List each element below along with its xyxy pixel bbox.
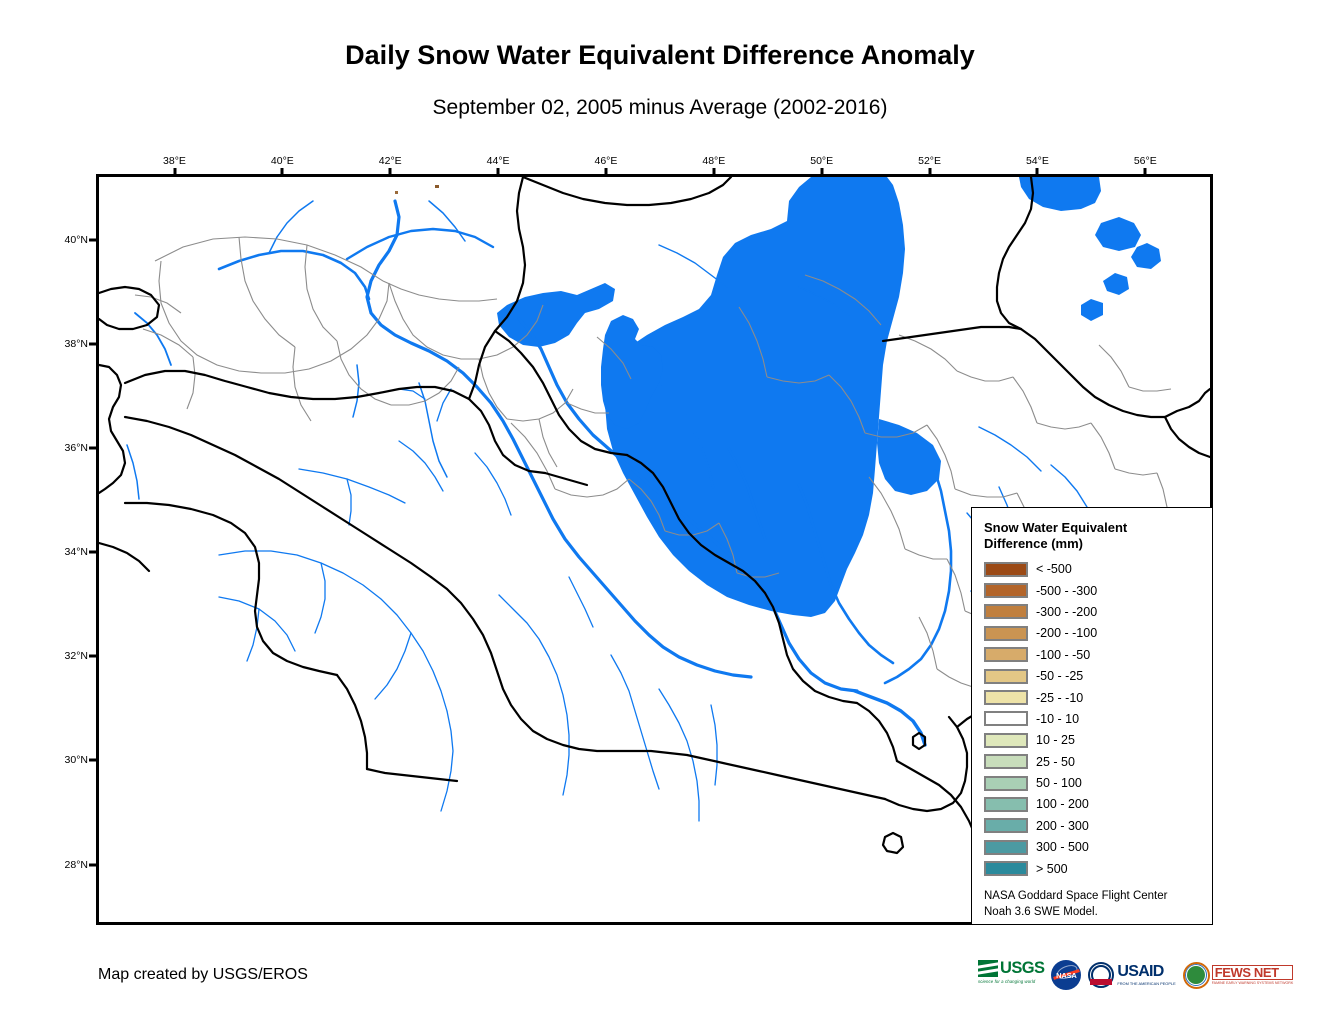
admin-iran-24 bbox=[1129, 387, 1171, 391]
wadi-central-3 bbox=[611, 655, 659, 789]
legend-color-swatch bbox=[984, 583, 1028, 598]
usgs-wave-icon bbox=[978, 960, 998, 977]
legend-row[interactable]: -10 - 10 bbox=[984, 708, 1202, 729]
legend-label: -25 - -10 bbox=[1036, 691, 1083, 705]
legend-row[interactable]: 300 - 500 bbox=[984, 837, 1202, 858]
fews-logo-tagline: FAMINE EARLY WARNING SYSTEMS NETWORK bbox=[1212, 981, 1294, 985]
legend-color-swatch bbox=[984, 797, 1028, 812]
legend-label: < -500 bbox=[1036, 562, 1072, 576]
lat-axis-label: 40°N bbox=[52, 234, 88, 246]
fews-logo-text: FEWS NET bbox=[1212, 965, 1294, 980]
nasa-logo: NASA bbox=[1051, 960, 1081, 990]
admin-iran-28 bbox=[919, 617, 937, 669]
caspian-east-shoal-2 bbox=[1131, 243, 1161, 269]
legend-label: -50 - -25 bbox=[1036, 669, 1083, 683]
fews-globe-icon bbox=[1183, 962, 1210, 989]
admin-iran-14 bbox=[1091, 423, 1115, 469]
usaid-logo: USAID FROM THE AMERICAN PEOPLE bbox=[1088, 960, 1175, 990]
caspian-east-shoal-3 bbox=[1103, 273, 1129, 295]
wadi-west-3 bbox=[399, 441, 443, 491]
legend-row[interactable]: -25 - -10 bbox=[984, 687, 1202, 708]
lon-axis-label: 56°E bbox=[1134, 155, 1157, 167]
legend-entries: < -500-500 - -300-300 - -200-200 - -100-… bbox=[984, 559, 1202, 880]
river-murat bbox=[347, 229, 493, 259]
lon-axis-label: 50°E bbox=[810, 155, 833, 167]
admin-turkey-9 bbox=[293, 347, 311, 421]
river-khabur-trib2 bbox=[437, 389, 451, 421]
border-turkey-syria bbox=[125, 371, 545, 473]
coast-mediterranean bbox=[99, 365, 125, 493]
legend-row[interactable]: < -500 bbox=[984, 559, 1202, 580]
admin-iran-23 bbox=[1099, 345, 1129, 387]
admin-iran-10 bbox=[899, 335, 957, 371]
coast-cyprus bbox=[99, 287, 159, 329]
legend-label: 25 - 50 bbox=[1036, 755, 1075, 769]
legend-color-swatch bbox=[984, 711, 1028, 726]
wadi-sw-2 bbox=[315, 563, 325, 633]
wadi-central-1 bbox=[499, 595, 569, 795]
wadi-west-1 bbox=[299, 469, 405, 503]
coast-gulf-island-2 bbox=[883, 833, 903, 853]
legend-row[interactable]: 10 - 25 bbox=[984, 730, 1202, 751]
lat-axis-label: 38°N bbox=[52, 338, 88, 350]
border-jordan-saudi bbox=[125, 503, 337, 675]
legend-label: 100 - 200 bbox=[1036, 797, 1089, 811]
border-kuwait bbox=[367, 769, 457, 781]
border-caspian-west bbox=[883, 327, 1021, 341]
lat-axis-label: 36°N bbox=[52, 442, 88, 454]
border-saudi-kuwait bbox=[337, 675, 367, 769]
lon-axis-label: 44°E bbox=[487, 155, 510, 167]
legend-label: > 500 bbox=[1036, 862, 1068, 876]
border-turkey-iran bbox=[469, 177, 525, 399]
nasa-meatball-icon: NASA bbox=[1051, 960, 1081, 990]
legend-color-swatch bbox=[984, 733, 1028, 748]
border-iraq-iran-south bbox=[857, 703, 897, 761]
legend-color-swatch bbox=[984, 754, 1028, 769]
legend-label: -500 - -300 bbox=[1036, 584, 1097, 598]
footer-credit: Map created by USGS/EROS bbox=[98, 966, 308, 984]
legend-row[interactable]: -500 - -300 bbox=[984, 580, 1202, 601]
usgs-logo-tagline: science for a changing world bbox=[978, 979, 1035, 984]
wadi-central-5 bbox=[711, 705, 717, 785]
river-iran-3 bbox=[979, 427, 1041, 471]
wadi-west-4 bbox=[475, 453, 511, 515]
river-balikh bbox=[353, 365, 359, 417]
admin-iraq-2 bbox=[555, 479, 629, 497]
border-caspian-russia-kazakh bbox=[997, 177, 1033, 329]
fews-net-logo: FEWS NET FAMINE EARLY WARNING SYSTEMS NE… bbox=[1183, 960, 1294, 990]
river-karun bbox=[885, 471, 951, 683]
legend-label: 10 - 25 bbox=[1036, 733, 1075, 747]
lat-axis-label: 30°N bbox=[52, 754, 88, 766]
coast-persian-gulf-arabian bbox=[885, 717, 967, 811]
lon-axis-label: 46°E bbox=[595, 155, 618, 167]
wadi-sw-4 bbox=[247, 609, 259, 661]
lat-axis-label: 28°N bbox=[52, 859, 88, 871]
legend-row[interactable]: > 500 bbox=[984, 858, 1202, 879]
border-iran-turkmen-east bbox=[1165, 417, 1210, 457]
legend-label: 300 - 500 bbox=[1036, 840, 1089, 854]
legend-label: 200 - 300 bbox=[1036, 819, 1089, 833]
border-turkey-north bbox=[523, 177, 731, 205]
legend-label: -10 - 10 bbox=[1036, 712, 1079, 726]
legend-color-swatch bbox=[984, 861, 1028, 876]
page-subtitle: September 02, 2005 minus Average (2002-2… bbox=[0, 96, 1320, 120]
nasa-logo-text: NASA bbox=[1056, 971, 1076, 980]
usgs-logo-text: USGS bbox=[1000, 960, 1044, 977]
admin-turkey-7 bbox=[389, 283, 479, 359]
caspian-east-shoal-4 bbox=[1081, 299, 1103, 321]
wadi-sw-5 bbox=[375, 633, 411, 699]
legend-color-swatch bbox=[984, 669, 1028, 684]
legend-label: 50 - 100 bbox=[1036, 776, 1082, 790]
admin-iran-18 bbox=[905, 549, 947, 559]
admin-iran-13 bbox=[1037, 423, 1091, 429]
speck-brown-1 bbox=[435, 185, 439, 188]
map-legend[interactable]: Snow Water Equivalent Difference (mm) < … bbox=[971, 507, 1213, 925]
legend-row[interactable]: 50 - 100 bbox=[984, 772, 1202, 793]
admin-turkey-12 bbox=[479, 359, 507, 419]
river-iran-5 bbox=[1051, 465, 1087, 507]
legend-row[interactable]: -300 - -200 bbox=[984, 601, 1202, 622]
admin-iran-29 bbox=[937, 669, 973, 687]
legend-color-swatch bbox=[984, 647, 1028, 662]
caspian-east-shoal-1 bbox=[1095, 217, 1141, 251]
usgs-logo: USGS science for a changing world bbox=[978, 960, 1044, 990]
lon-axis-label: 52°E bbox=[918, 155, 941, 167]
wadi-sw-1 bbox=[219, 551, 447, 711]
border-caspian-azer-iran bbox=[1021, 329, 1165, 417]
lon-axis-label: 38°E bbox=[163, 155, 186, 167]
legend-row[interactable]: -100 - -50 bbox=[984, 644, 1202, 665]
lat-axis-label: 34°N bbox=[52, 546, 88, 558]
lon-axis-label: 48°E bbox=[702, 155, 725, 167]
admin-iran-7 bbox=[955, 489, 1017, 497]
admin-turkey-15 bbox=[187, 357, 195, 409]
admin-turkey-2 bbox=[159, 261, 261, 373]
logo-strip: USGS science for a changing world NASA U… bbox=[978, 958, 1293, 992]
legend-label: -100 - -50 bbox=[1036, 648, 1090, 662]
legend-row[interactable]: 100 - 200 bbox=[984, 794, 1202, 815]
page-title: Daily Snow Water Equivalent Difference A… bbox=[0, 40, 1320, 71]
legend-color-swatch bbox=[984, 604, 1028, 619]
usaid-logo-text: USAID bbox=[1117, 964, 1175, 980]
wadi-sw-6 bbox=[441, 711, 453, 811]
legend-color-swatch bbox=[984, 562, 1028, 577]
wadi-central-2 bbox=[569, 577, 593, 627]
legend-row[interactable]: -200 - -100 bbox=[984, 623, 1202, 644]
lon-axis-label: 54°E bbox=[1026, 155, 1049, 167]
river-turkey-2 bbox=[429, 201, 465, 241]
river-levant-2 bbox=[127, 445, 139, 499]
admin-turkey-3 bbox=[261, 283, 389, 373]
legend-color-swatch bbox=[984, 776, 1028, 791]
wadi-west-2 bbox=[347, 479, 351, 525]
legend-color-swatch bbox=[984, 818, 1028, 833]
legend-label: -300 - -200 bbox=[1036, 605, 1097, 619]
legend-title: Snow Water Equivalent Difference (mm) bbox=[984, 520, 1202, 553]
legend-label: -200 - -100 bbox=[1036, 626, 1097, 640]
admin-iran-15 bbox=[1115, 469, 1157, 475]
legend-source-note: NASA Goddard Space Flight Center Noah 3.… bbox=[984, 889, 1202, 920]
admin-iran-12 bbox=[1013, 377, 1037, 423]
usaid-seal-icon bbox=[1088, 962, 1114, 988]
speck-blue-1 bbox=[717, 327, 720, 330]
legend-color-swatch bbox=[984, 690, 1028, 705]
legend-color-swatch bbox=[984, 626, 1028, 641]
lat-axis-label: 32°N bbox=[52, 650, 88, 662]
admin-turkey-14 bbox=[143, 329, 193, 357]
legend-row[interactable]: 200 - 300 bbox=[984, 815, 1202, 836]
admin-iran-11 bbox=[957, 371, 1013, 381]
usaid-logo-tagline: FROM THE AMERICAN PEOPLE bbox=[1117, 981, 1175, 986]
coast-sinai-redsea bbox=[99, 543, 149, 571]
lon-axis-label: 40°E bbox=[271, 155, 294, 167]
lon-axis-label: 42°E bbox=[379, 155, 402, 167]
border-iran-turkmenistan bbox=[1165, 389, 1210, 417]
admin-iraq-9 bbox=[539, 419, 557, 467]
legend-row[interactable]: 25 - 50 bbox=[984, 751, 1202, 772]
admin-turkey-6 bbox=[383, 281, 497, 301]
border-syria-iraq bbox=[545, 473, 587, 485]
speck-brown-2 bbox=[395, 191, 398, 194]
legend-row[interactable]: -50 - -25 bbox=[984, 665, 1202, 686]
legend-color-swatch bbox=[984, 840, 1028, 855]
border-syria-jordan bbox=[125, 417, 431, 577]
